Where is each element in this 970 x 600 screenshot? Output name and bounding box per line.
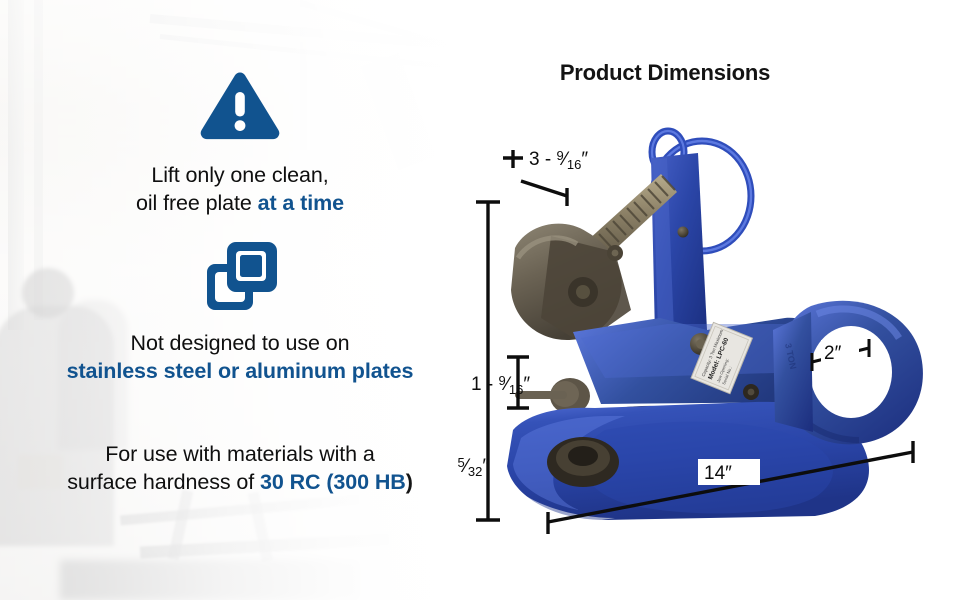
dim-whole: 1 - bbox=[471, 374, 498, 395]
dim-whole: 3 - bbox=[529, 149, 556, 170]
dimension-label-eye-diameter: 2″ bbox=[821, 340, 859, 364]
svg-text:1 - 9⁄16″: 1 - 9⁄16″ bbox=[471, 373, 530, 397]
svg-text:14″: 14″ bbox=[704, 463, 732, 484]
infographic-canvas: Lift only one clean, oil free plate at a… bbox=[0, 0, 970, 600]
svg-text:3 - 9⁄16″: 3 - 9⁄16″ bbox=[529, 148, 588, 172]
tip-line-2: surface hardness of 30 RC (300 HB) bbox=[30, 468, 450, 496]
tip-item-no-stainless-aluminum: Not designed to use on stainless steel o… bbox=[30, 238, 450, 385]
tip-line-2: oil free plate at a time bbox=[30, 189, 450, 217]
tip-highlight-text: at a time bbox=[258, 191, 344, 215]
tip-highlight-text: 30 RC (300 HB bbox=[260, 470, 406, 494]
tip-text: Not designed to use on stainless steel o… bbox=[30, 329, 450, 385]
dimension-label-overall-height: 7 - 5⁄32″ bbox=[455, 455, 489, 479]
dimension-annotations: 3 - 9⁄16″ 1 - 9⁄16″ 7 - 5⁄32″ 14″ bbox=[455, 0, 970, 600]
tip-text: Lift only one clean, oil free plate at a… bbox=[30, 161, 450, 217]
warning-triangle-icon bbox=[30, 70, 450, 147]
dim-unit: ″ bbox=[482, 456, 489, 477]
tip-item-surface-hardness: For use with materials with a surface ha… bbox=[30, 440, 450, 496]
product-dimensions-panel: Product Dimensions bbox=[455, 0, 970, 600]
dim-denominator: 32 bbox=[468, 464, 482, 479]
dimension-line-overall-length bbox=[548, 441, 913, 534]
dim-unit: ″ bbox=[523, 374, 530, 395]
tip-text: For use with materials with a surface ha… bbox=[30, 440, 450, 496]
tip-highlight-tail: ) bbox=[406, 470, 413, 494]
dim-numerator: 5 bbox=[457, 455, 464, 470]
tip-item-lift-one-plate: Lift only one clean, oil free plate at a… bbox=[30, 70, 450, 217]
tip-line-1: Lift only one clean, bbox=[30, 161, 450, 189]
dim-whole: 14 bbox=[704, 463, 726, 484]
tip-plain-text: oil free plate bbox=[136, 191, 258, 215]
svg-text:2″: 2″ bbox=[824, 343, 842, 364]
tip-plain-text: surface hardness of bbox=[67, 470, 260, 494]
dim-denominator: 16 bbox=[567, 157, 581, 172]
stacked-plates-icon bbox=[30, 238, 450, 315]
tips-column: Lift only one clean, oil free plate at a… bbox=[30, 0, 450, 600]
dim-unit: ″ bbox=[835, 343, 842, 364]
dim-unit: ″ bbox=[725, 463, 732, 484]
dim-denominator: 16 bbox=[509, 382, 523, 397]
tip-line-1: For use with materials with a bbox=[30, 440, 450, 468]
dim-numerator: 9 bbox=[556, 148, 563, 163]
dimension-label-jaw-opening: 1 - 9⁄16″ bbox=[471, 373, 530, 397]
dim-unit: ″ bbox=[581, 149, 588, 170]
dimension-label-screw-height: 3 - 9⁄16″ bbox=[529, 148, 588, 172]
dim-numerator: 9 bbox=[498, 373, 505, 388]
tip-line-1: Not designed to use on bbox=[30, 329, 450, 357]
svg-text:7 - 5⁄32″: 7 - 5⁄32″ bbox=[455, 455, 489, 479]
tip-line-2: stainless steel or aluminum plates bbox=[30, 357, 450, 385]
dimension-label-overall-length: 14″ bbox=[698, 459, 760, 485]
dim-whole: 2 bbox=[824, 343, 835, 364]
